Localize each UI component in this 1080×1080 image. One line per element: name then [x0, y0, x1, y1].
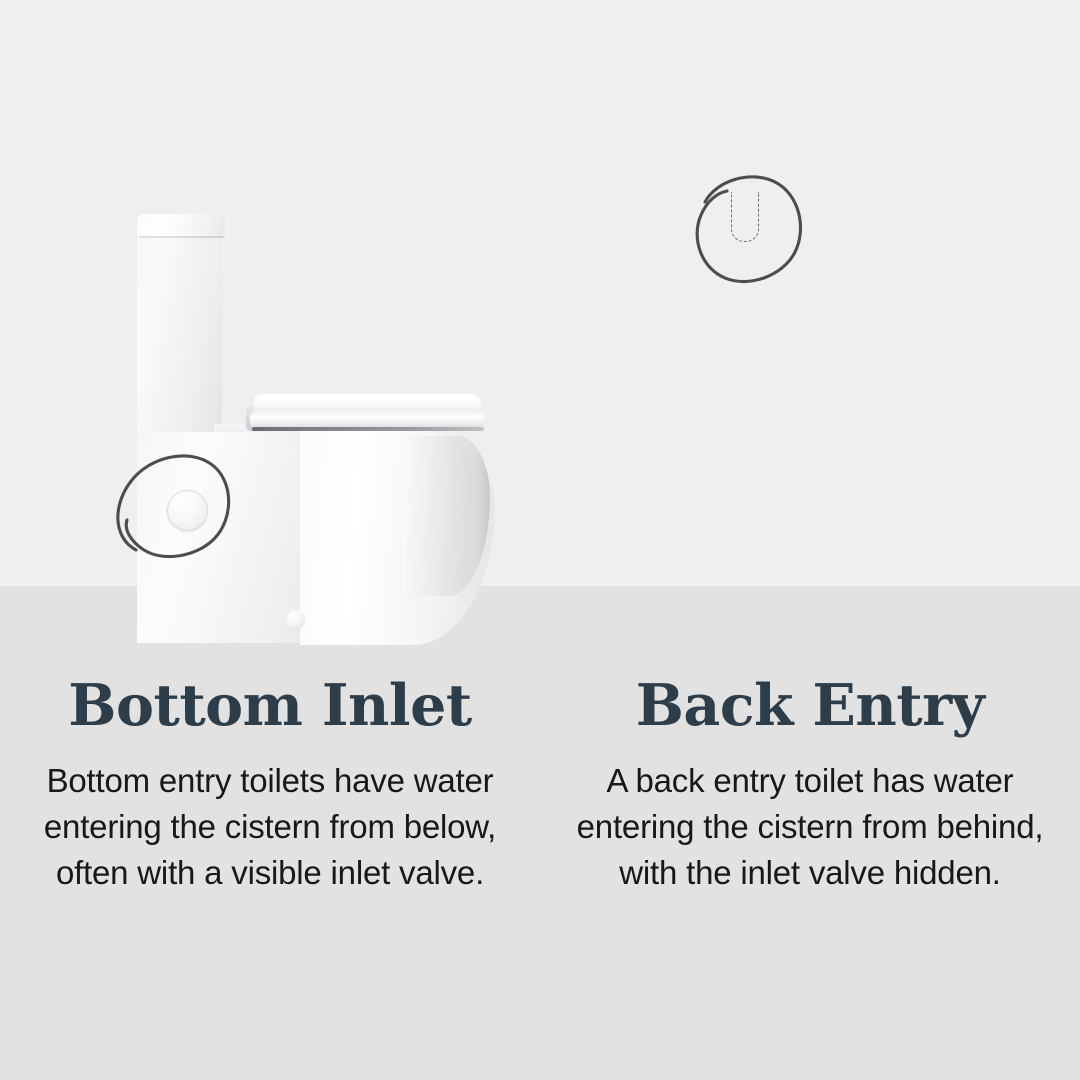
text-block-bottom-inlet: Bottom Inlet Bottom entry toilets have w… — [0, 676, 540, 896]
heading-bottom-inlet: Bottom Inlet — [0, 676, 540, 736]
heading-spacer — [0, 736, 540, 758]
base-bolt-cap — [286, 610, 305, 629]
heading-back-entry: Back Entry — [540, 676, 1080, 736]
seat-ring — [250, 411, 485, 428]
seat-shadow-line — [252, 427, 484, 431]
illustration-side-profile-toilet — [0, 0, 540, 660]
description-bottom-inlet: Bottom entry toilets have water entering… — [0, 758, 540, 896]
cistern-body — [137, 221, 222, 436]
description-back-entry: A back entry toilet has water entering t… — [540, 758, 1080, 896]
comparison-infographic: Bottom Inlet Bottom entry toilets have w… — [0, 0, 1080, 1080]
heading-spacer — [540, 736, 1080, 758]
hidden-inlet-dashed-marker — [731, 192, 759, 242]
column-bottom-inlet: Bottom Inlet Bottom entry toilets have w… — [0, 0, 540, 1080]
cistern-lid — [137, 214, 225, 238]
cistern-lid-seam — [139, 236, 223, 238]
column-back-entry: Back Entry A back entry toilet has water… — [540, 0, 1080, 1080]
inlet-valve-knob — [167, 490, 208, 531]
text-block-back-entry: Back Entry A back entry toilet has water… — [540, 676, 1080, 896]
